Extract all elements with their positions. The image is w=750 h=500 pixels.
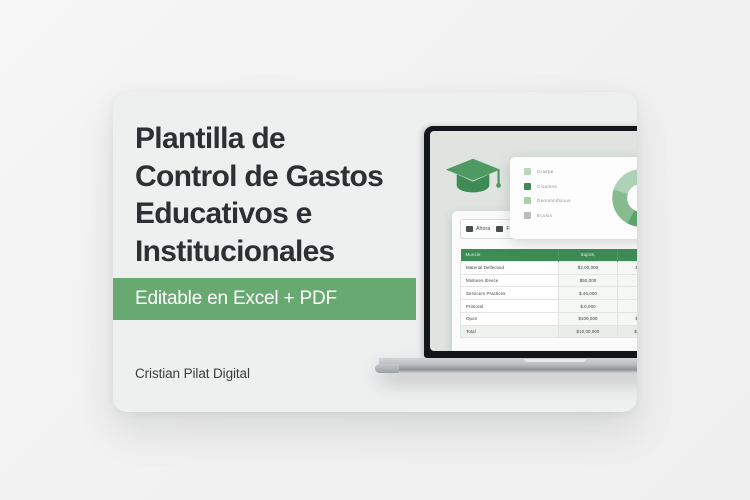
- table-row[interactable]: Opon$100,000$1,000,000: [461, 312, 638, 325]
- donut-chart: [602, 157, 637, 239]
- table-row[interactable]: Total$10,00,000$11,000,000: [461, 325, 638, 338]
- table-row[interactable]: Mixtures Ibrvice$50,000$400,000: [461, 274, 638, 287]
- table-cell: Opon: [461, 312, 559, 325]
- table-cell: $.45,000: [559, 287, 618, 300]
- legend-item[interactable]: Denomnifsinus: [524, 197, 602, 204]
- table-cell: $10,00,000: [559, 325, 618, 338]
- legend-swatch: [524, 197, 531, 204]
- legend-swatch: [524, 183, 531, 190]
- legend-label: Denomnifsinus: [537, 198, 571, 203]
- table-cell: $1,000,000: [618, 312, 638, 325]
- graduation-cap-icon: [444, 155, 502, 197]
- ribbon-banner: Editable en Excel + PDF: [113, 278, 416, 320]
- table-cell: Total: [461, 325, 559, 338]
- table-row[interactable]: Servicers Practices$.45,000$80,000: [461, 287, 638, 300]
- table-body: Material Dellectiod$2,00,000$1,000,000Mi…: [461, 261, 638, 338]
- table-cell: Servicers Practices: [461, 287, 559, 300]
- format-icon: [496, 226, 503, 232]
- laptop-screen: Ahora For Muncie: [430, 131, 637, 351]
- donut-chart-svg: [610, 167, 637, 229]
- page-title: Plantilla de Control de Gastos Educativo…: [135, 120, 435, 271]
- table-cell: $50,000: [559, 274, 618, 287]
- canvas: Ahora For Muncie: [0, 0, 750, 500]
- expense-table: Muncie Suprts, States Material Dellectio…: [460, 249, 637, 338]
- table-cell: $2,00,000: [559, 261, 618, 274]
- table-cell: Material Dellectiod: [461, 261, 559, 274]
- table-cell: $.0,000: [559, 300, 618, 313]
- table-cell: $1,000,000: [618, 261, 638, 274]
- chart-panel: GraspeCloumnsDenomnifsinusEcosis: [510, 157, 637, 239]
- column-header-budget: Suprts,: [559, 249, 618, 261]
- legend-label: Cloumns: [537, 184, 557, 189]
- table-cell: $80,000: [618, 287, 638, 300]
- legend-item[interactable]: Graspe: [524, 168, 602, 175]
- chart-legend: GraspeCloumnsDenomnifsinusEcosis: [510, 157, 602, 239]
- legend-swatch: [524, 212, 531, 219]
- column-header-status: States: [618, 249, 638, 261]
- promo-card: Ahora For Muncie: [113, 92, 637, 412]
- table-header-row: Muncie Suprts, States: [461, 249, 638, 261]
- table-cell: $100,000: [559, 312, 618, 325]
- table-row[interactable]: Material Dellectiod$2,00,000$1,000,000: [461, 261, 638, 274]
- ribbon-label: Editable en Excel + PDF: [135, 288, 337, 310]
- save-icon: [466, 226, 473, 232]
- legend-label: Ecosis: [537, 213, 552, 218]
- table-cell: Mixtures Ibrvice: [461, 274, 559, 287]
- laptop-lid: Ahora For Muncie: [424, 126, 637, 358]
- laptop-mockup: Ahora For Muncie: [424, 126, 637, 412]
- table-cell: $0,000: [618, 300, 638, 313]
- column-header-name: Muncie: [461, 249, 559, 261]
- byline: Cristian Pilat Digital: [135, 366, 250, 381]
- legend-item[interactable]: Cloumns: [524, 183, 602, 190]
- legend-item[interactable]: Ecosis: [524, 212, 602, 219]
- card-copy: Plantilla de Control de Gastos Educativo…: [113, 92, 423, 412]
- table-row[interactable]: Primoral$.0,000$0,000: [461, 300, 638, 313]
- toolbar-button-save-label: Ahora: [476, 226, 490, 232]
- table-cell: $400,000: [618, 274, 638, 287]
- legend-label: Graspe: [537, 169, 554, 174]
- legend-swatch: [524, 168, 531, 175]
- toolbar-button-save[interactable]: Ahora: [466, 226, 490, 232]
- table-cell: Primoral: [461, 300, 559, 313]
- table-cell: $11,000,000: [618, 325, 638, 338]
